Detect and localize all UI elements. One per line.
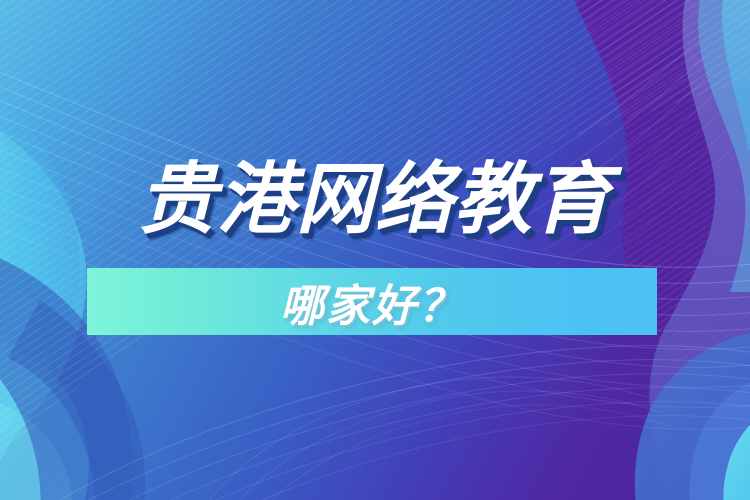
promo-banner: 贵港网络教育 哪家好？ [0,0,750,500]
page-title: 贵港网络教育 [0,152,750,248]
banner-content: 贵港网络教育 哪家好？ [0,0,750,500]
page-subtitle: 哪家好？ [87,268,657,335]
